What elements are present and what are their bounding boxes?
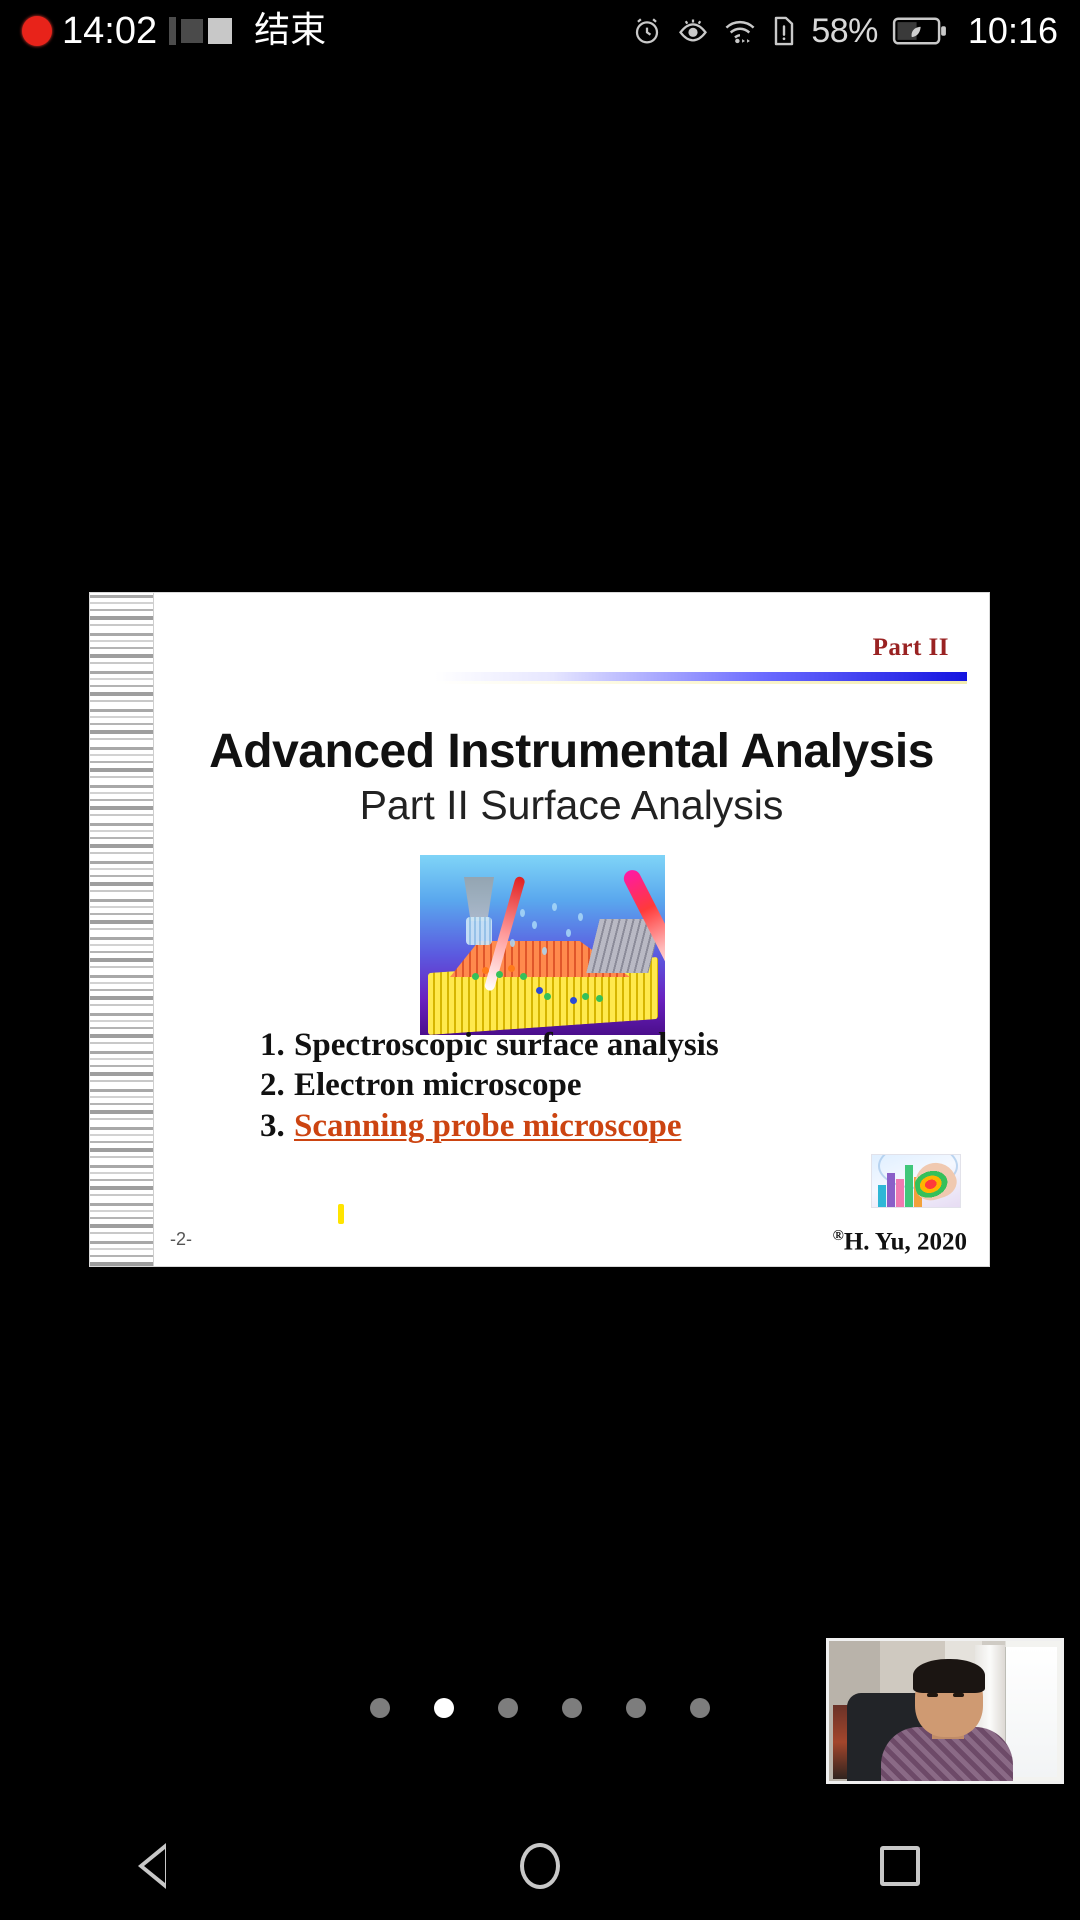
- screen-root: 14:02 结束: [0, 0, 1080, 1920]
- slide-copyright: ®H. Yu, 2020: [833, 1228, 967, 1256]
- list-item-number: 3.: [260, 1106, 294, 1146]
- presenter-video-thumbnail[interactable]: [826, 1638, 1064, 1784]
- list-item-number: 2.: [260, 1065, 294, 1105]
- battery-percent: 58%: [811, 12, 878, 51]
- page-dot[interactable]: [562, 1698, 582, 1718]
- recording-timer: 14:02: [62, 12, 157, 50]
- list-item-number: 1.: [260, 1025, 294, 1065]
- page-dot-active[interactable]: [434, 1698, 454, 1718]
- list-item[interactable]: 2.Electron microscope: [260, 1065, 719, 1105]
- android-nav-bar: [0, 1812, 1080, 1920]
- home-button[interactable]: [480, 1812, 600, 1920]
- slide-page-number: -2-: [170, 1229, 192, 1250]
- page-dot[interactable]: [626, 1698, 646, 1718]
- back-icon: [166, 1843, 194, 1889]
- list-item-label: Electron microscope: [294, 1067, 581, 1103]
- slide-decoration-barcode: [90, 593, 154, 1266]
- slide-part-label: Part II: [873, 634, 949, 662]
- list-item-label: Spectroscopic surface analysis: [294, 1027, 719, 1063]
- slide-title: Advanced Instrumental Analysis: [154, 724, 989, 779]
- recents-button[interactable]: [840, 1812, 960, 1920]
- battery-eco-icon: [892, 16, 948, 46]
- slide-header-rule: [435, 672, 967, 681]
- publisher-logo: [871, 1154, 961, 1208]
- slide-topic-list: 1.Spectroscopic surface analysis 2.Elect…: [260, 1025, 719, 1146]
- page-dot[interactable]: [690, 1698, 710, 1718]
- slide-subtitle: Part II Surface Analysis: [154, 782, 989, 829]
- home-icon: [520, 1843, 560, 1889]
- status-bar: 14:02 结束: [0, 0, 1080, 62]
- page-dot[interactable]: [498, 1698, 518, 1718]
- recording-pause-icon[interactable]: [169, 17, 232, 45]
- recents-icon: [880, 1846, 920, 1886]
- status-bar-left: 14:02 结束: [0, 12, 326, 50]
- registered-mark: ®: [833, 1228, 844, 1244]
- slide-canvas[interactable]: Part II Advanced Instrumental Analysis P…: [89, 592, 990, 1267]
- list-item[interactable]: 1.Spectroscopic surface analysis: [260, 1025, 719, 1065]
- page-dot[interactable]: [370, 1698, 390, 1718]
- surface-analysis-illustration: [420, 855, 665, 1035]
- highlight-marker: [338, 1204, 344, 1224]
- copyright-text: H. Yu, 2020: [844, 1228, 967, 1255]
- alarm-icon: [631, 15, 663, 47]
- system-clock: 10:16: [968, 10, 1058, 52]
- eye-comfort-icon: [677, 15, 709, 47]
- list-item-label: Scanning probe microscope: [294, 1108, 681, 1144]
- status-bar-right: 58% 10:16: [631, 10, 1080, 52]
- back-button[interactable]: [120, 1812, 240, 1920]
- slide-header-rule-shadow: [435, 681, 967, 684]
- list-item[interactable]: 3.Scanning probe microscope: [260, 1106, 719, 1146]
- record-dot-icon: [22, 16, 52, 46]
- sim-alert-icon: [771, 15, 797, 47]
- wifi-icon: [723, 15, 757, 47]
- recording-end-button[interactable]: 结束: [254, 13, 326, 49]
